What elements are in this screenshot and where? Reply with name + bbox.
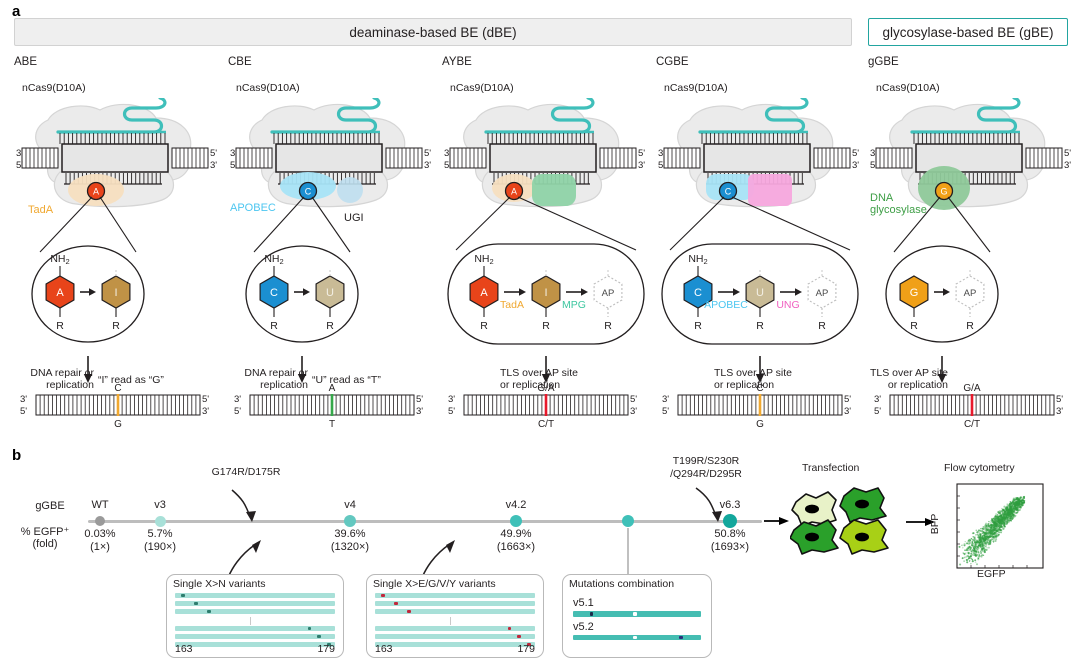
mutation-row [175,609,335,614]
outcome-bottom-base-aybe: C/T [538,419,554,428]
inset-sublabel-cbe-1: R [326,320,334,332]
inset-reaction-aybe: ARNH2TadAIRMPGAPR [470,253,622,332]
mutation-box-single-xegvy: Single X>E/G/V/Y variants163179 [366,574,544,658]
mutation-marker [679,636,683,640]
mutation-marker [407,610,411,614]
strand-end-aybe-2: 5' [638,148,645,159]
inset-lens-abe [32,197,144,342]
strand-end-aybe-3: 3' [638,160,645,171]
mutation-marker [517,635,521,639]
combination-row [573,611,701,617]
strand-end-cbe-0: 3' [230,148,237,159]
column-title-aybe: AYBE [442,56,472,68]
combination-row [573,635,701,641]
outcome-end-cgbe-0: 3' [662,394,669,405]
inset-top-group-cbe: NH2 [264,253,283,266]
inset-enzyme-label-aybe-0: TadA [500,299,524,311]
scatter-x-label: EGFP [977,568,1006,580]
ncas9-label-cbe: nCas9(D10A) [236,82,300,94]
inset-base-cgbe-2: AP [816,288,829,299]
mutation-row [175,601,335,606]
inset-sublabel-cbe-0: R [270,320,278,332]
outcome-end-cgbe-2: 5' [844,394,851,405]
inset-base-ggbe-1: AP [964,288,977,299]
mutation-marker [590,612,594,616]
inset-sublabel-ggbe-1: R [966,320,974,332]
inset-base-aybe-0: A [480,287,488,299]
mutation-row [375,593,535,598]
inset-sublabel-cgbe-2: R [818,320,826,332]
inset-top-group-abe: NH2 [50,253,69,266]
mutation-row-ellipsis [175,617,335,626]
mutation-box-mutations-combination: Mutations combinationv5.1v5.2 [562,574,712,658]
group-header-dbe-label: deaminase-based BE (dBE) [349,25,516,40]
mutation-marker [317,635,321,639]
outcome-end-cgbe-3: 3' [844,406,851,417]
outcome-bottom-base-abe: G [114,419,122,428]
inset-sublabel-cgbe-1: R [756,320,764,332]
svg-text:A: A [93,187,99,197]
mutation-axis-left-single-xn: 163 [175,643,193,655]
column-title-ggbe: gGBE [868,56,899,68]
inset-base-abe-1: I [114,287,117,299]
inset-top-group-aybe: NH2 [474,253,493,266]
flow-cytometry-label: Flow cytometry [944,462,1015,474]
svg-text:A: A [511,187,517,197]
group-header-gbe: glycosylase-based BE (gBE) [868,18,1068,46]
mutation-marker [633,612,637,616]
strand-end-ggbe-3: 3' [1064,160,1071,171]
be-column-cgbe: CGBEnCas9(D10A)C3'5'5'3'CRNH2APOBECURUNG… [656,56,868,440]
inset-sublabel-abe-0: R [56,320,64,332]
process-note-cbe: “U” read as “T” [312,374,432,386]
mutation-axis-left-single-xegvy: 163 [375,643,393,655]
mutation-row [375,609,535,614]
target-base-cgbe: C [720,183,737,200]
svg-text:G: G [940,187,947,197]
process-text-cgbe: TLS over AP site or replication [714,367,844,391]
inset-sublabel-aybe-0: R [480,320,488,332]
outcome-end-ggbe-2: 5' [1056,394,1063,405]
outcome-end-aybe-1: 5' [448,406,455,417]
outcome-end-abe-2: 5' [202,394,209,405]
mutation-marker [508,627,512,631]
mutation-marker [394,602,398,606]
mutation-row [175,642,335,647]
process-text-abe: DNA repair or replication [16,367,94,391]
process-text-ggbe: TLS over AP site or replication [870,367,948,391]
mutation-marker [633,636,637,640]
inset-sublabel-abe-1: R [112,320,120,332]
svg-text:C: C [725,187,732,197]
inset-base-cgbe-0: C [694,287,702,299]
strand-end-cbe-1: 5' [230,160,237,171]
inset-base-ggbe-0: G [910,287,919,299]
inset-enzyme-label-cgbe-0: APOBEC [704,299,748,311]
mutation-marker [207,610,211,614]
mutation-axis-right-single-xn: 179 [317,643,335,655]
outcome-end-cbe-0: 3' [234,394,241,405]
flow-cytometry-plot: EGFP BFP [947,482,1045,580]
mutation-box-title-single-xn: Single X>N variants [167,575,343,592]
be-column-aybe: AYBEnCas9(D10A)A3'5'5'3'ARNH2TadAIRMPGAP… [442,56,654,440]
mutation-axis-right-single-xegvy: 179 [517,643,535,655]
column-title-cbe: CBE [228,56,252,68]
mutation-row [175,626,335,631]
ncas9-label-ggbe: nCas9(D10A) [876,82,940,94]
outcome-top-base-ggbe: G/A [963,383,981,394]
mutation-row [375,634,535,639]
enzyme-label-cbe-ugi: UGI [344,212,364,224]
column-title-abe: ABE [14,56,37,68]
outcome-bottom-base-cgbe: G [756,419,764,428]
outcome-bottom-base-ggbe: C/T [964,419,980,428]
ncas9-label-cgbe: nCas9(D10A) [664,82,728,94]
inset-lens-ggbe [886,197,998,342]
inset-reaction-abe: ARNH2IR [46,253,130,332]
column-title-cgbe: CGBE [656,56,689,68]
be-column-cbe: CBEnCas9(D10A)C3'5'5'3'CRNH2URAT3'5'5'3'… [228,56,440,440]
outcome-end-ggbe-0: 3' [874,394,881,405]
strand-end-ggbe-1: 5' [870,160,877,171]
inset-reaction-ggbe: GRAPR [900,268,984,332]
inset-base-aybe-1: I [544,287,547,299]
outcome-end-ggbe-1: 5' [874,406,881,417]
outcome-end-cbe-2: 5' [416,394,423,405]
inset-sublabel-aybe-2: R [604,320,612,332]
strand-end-cbe-2: 5' [424,148,431,159]
strand-end-ggbe-0: 3' [870,148,877,159]
strand-end-abe-0: 3' [16,148,23,159]
transfection-label: Transfection [802,462,859,474]
combination-variant-label: v5.1 [573,597,701,609]
target-base-ggbe: G [936,183,953,200]
mutation-marker [181,594,185,598]
outcome-end-cbe-3: 3' [416,406,423,417]
mutation-row [375,601,535,606]
inset-top-group-cgbe: NH2 [688,253,707,266]
outcome-end-abe-1: 5' [20,406,27,417]
inset-enzyme-label-cgbe-1: UNG [776,299,799,311]
inset-base-cbe-0: C [270,287,278,299]
inset-sublabel-cgbe-0: R [694,320,702,332]
target-base-cbe: C [300,183,317,200]
mutation-row [375,626,535,631]
transfected-cells-illustration [790,482,900,562]
outcome-end-cbe-1: 5' [234,406,241,417]
inset-base-cbe-1: U [326,287,334,299]
enzyme-label-abe-tada: TadA [28,204,53,216]
inset-sublabel-ggbe-0: R [910,320,918,332]
outcome-end-aybe-3: 3' [630,406,637,417]
strand-end-cbe-3: 3' [424,160,431,171]
inset-reaction-cgbe: CRNH2APOBECURUNGAPR [684,253,836,332]
process-text-aybe: TLS over AP site or replication [500,367,630,391]
outcome-bottom-base-cbe: T [329,419,335,428]
outcome-end-ggbe-3: 3' [1056,406,1063,417]
outcome-end-aybe-0: 3' [448,394,455,405]
process-text-cbe: DNA repair or replication [230,367,308,391]
mutation-row [175,634,335,639]
mutation-box-title-mutations-combination: Mutations combination [563,575,711,592]
outcome-end-cgbe-1: 5' [662,406,669,417]
outcome-end-aybe-2: 5' [630,394,637,405]
enzyme-label-ggbe-dna-glycosylase: DNA glycosylase [870,192,927,216]
mutation-marker [308,627,312,631]
be-column-ggbe: gGBEnCas9(D10A)G3'5'5'3'GRAPRG/AC/T3'5'5… [868,56,1080,440]
strand-end-abe-1: 5' [16,160,23,171]
inset-sublabel-aybe-1: R [542,320,550,332]
outcome-end-abe-3: 3' [202,406,209,417]
combination-variant-label: v5.2 [573,621,701,633]
mutation-marker [194,602,198,606]
mutation-row [375,642,535,647]
strand-end-cgbe-2: 5' [852,148,859,159]
inset-base-cgbe-1: U [756,287,764,299]
inset-reaction-cbe: CRNH2UR [260,253,344,332]
inset-base-aybe-2: AP [602,288,615,299]
inset-enzyme-label-aybe-1: MPG [562,299,586,311]
scatter-y-label: BFP [929,514,941,534]
group-header-gbe-label: glycosylase-based BE (gBE) [882,25,1053,40]
group-header-dbe: deaminase-based BE (dBE) [14,18,852,46]
mutation-box-title-single-xegvy: Single X>E/G/V/Y variants [367,575,543,592]
strand-end-cgbe-0: 3' [658,148,665,159]
ncas9-label-aybe: nCas9(D10A) [450,82,514,94]
inset-base-abe-0: A [56,287,64,299]
target-base-aybe: A [506,183,523,200]
ncas9-label-abe: nCas9(D10A) [22,82,86,94]
strand-end-ggbe-2: 5' [1064,148,1071,159]
be-column-abe: ABEnCas9(D10A)A3'5'5'3'ARNH2IRCG3'5'5'3'… [14,56,226,440]
outcome-end-abe-0: 3' [20,394,27,405]
svg-text:C: C [305,187,312,197]
strand-end-aybe-1: 5' [444,160,451,171]
strand-end-aybe-0: 3' [444,148,451,159]
mutation-marker [381,594,385,598]
strand-end-abe-3: 3' [210,160,217,171]
mutation-row [175,593,335,598]
process-note-abe: “I” read as “G” [98,374,218,386]
target-base-abe: A [88,183,105,200]
mutation-box-single-xn: Single X>N variants163179 [166,574,344,658]
strand-end-cgbe-1: 5' [658,160,665,171]
enzyme-label-cbe-apobec: APOBEC [230,202,276,214]
strand-end-abe-2: 5' [210,148,217,159]
inset-lens-cbe [246,197,358,342]
strand-end-cgbe-3: 3' [852,160,859,171]
mutation-row-ellipsis [375,617,535,626]
